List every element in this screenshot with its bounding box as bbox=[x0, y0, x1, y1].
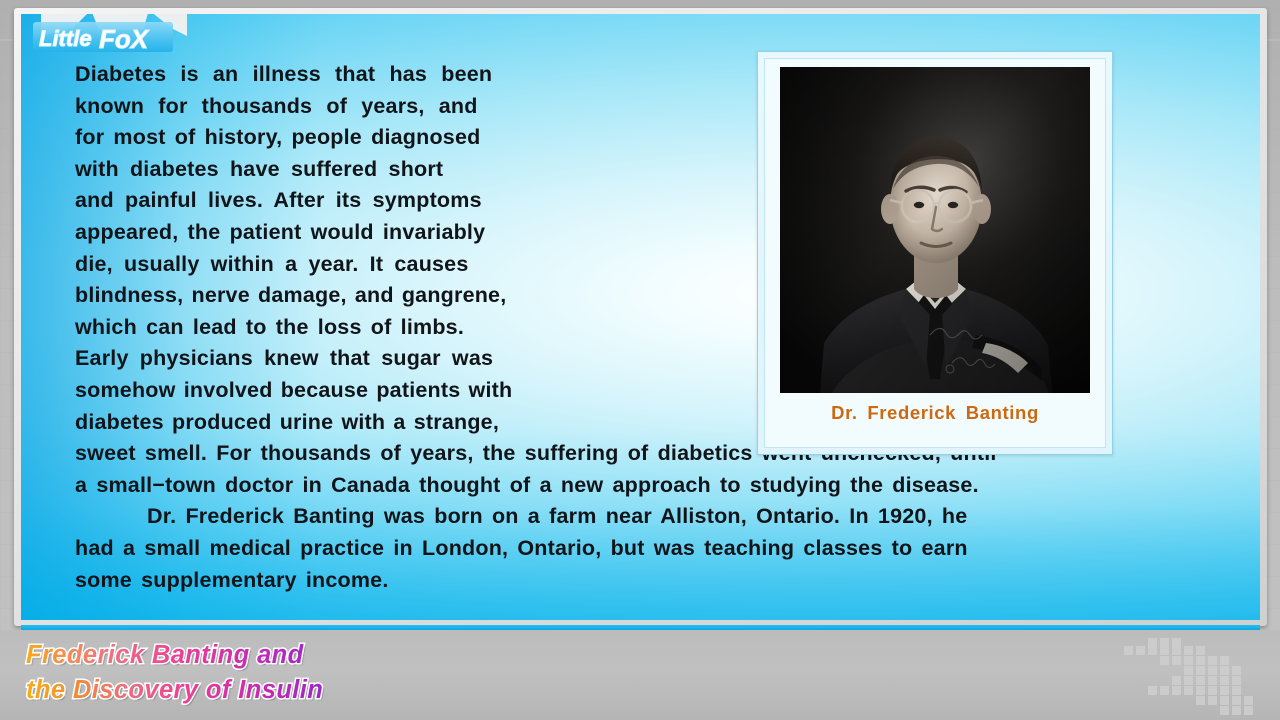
lesson-slide: Diabetes is an illness that has been kno… bbox=[21, 14, 1260, 620]
text-line: somehow involved because patients with bbox=[75, 375, 595, 407]
video-player-stage: Diabetes is an illness that has been kno… bbox=[0, 0, 1280, 720]
text-line: a small−town doctor in Canada thought of… bbox=[75, 470, 1205, 502]
grid-decoration bbox=[1122, 632, 1272, 718]
little-fox-logo[interactable]: Little FoX bbox=[21, 14, 197, 56]
text-line: appeared, the patient would invariably bbox=[75, 217, 595, 249]
text-line: which can lead to the loss of limbs. bbox=[75, 312, 595, 344]
svg-text:FoX: FoX bbox=[99, 24, 150, 54]
portrait-frame-inner: Dr. Frederick Banting bbox=[764, 58, 1106, 448]
portrait-caption: Dr. Frederick Banting bbox=[831, 402, 1039, 424]
lesson-title: Frederick Banting and Frederick Banting … bbox=[26, 638, 323, 708]
footer-bar: Frederick Banting and Frederick Banting … bbox=[0, 630, 1280, 720]
portrait-frame: Dr. Frederick Banting bbox=[757, 51, 1113, 455]
slide-bottom-accent-strip bbox=[21, 625, 1260, 630]
portrait-photo bbox=[780, 67, 1090, 393]
text-line: with diabetes have suffered short bbox=[75, 154, 595, 186]
text-line: for most of history, people diagnosed bbox=[75, 122, 595, 154]
text-line: known for thousands of years, and bbox=[75, 91, 595, 123]
text-line: blindness, nerve damage, and gangrene, bbox=[75, 280, 595, 312]
lesson-title-line-2: the Discovery of Insulin the Discovery o… bbox=[26, 673, 323, 708]
text-line: and painful lives. After its symptoms bbox=[75, 185, 595, 217]
text-line: had a small medical practice in London, … bbox=[75, 533, 1205, 565]
text-line: diabetes produced urine with a strange, bbox=[75, 407, 595, 439]
lesson-title-line-1-fill: Frederick Banting and bbox=[26, 638, 323, 673]
portrait-illustration bbox=[780, 67, 1090, 393]
lesson-title-line-1: Frederick Banting and Frederick Banting … bbox=[26, 638, 323, 673]
text-line: Dr. Frederick Banting was born on a farm… bbox=[75, 501, 1205, 533]
lesson-title-line-2-fill: the Discovery of Insulin bbox=[26, 673, 323, 708]
svg-text:Little: Little bbox=[39, 26, 92, 51]
text-line: die, usually within a year. It causes bbox=[75, 249, 595, 281]
text-line: some supplementary income. bbox=[75, 565, 1205, 597]
text-line: Early physicians knew that sugar was bbox=[75, 343, 595, 375]
